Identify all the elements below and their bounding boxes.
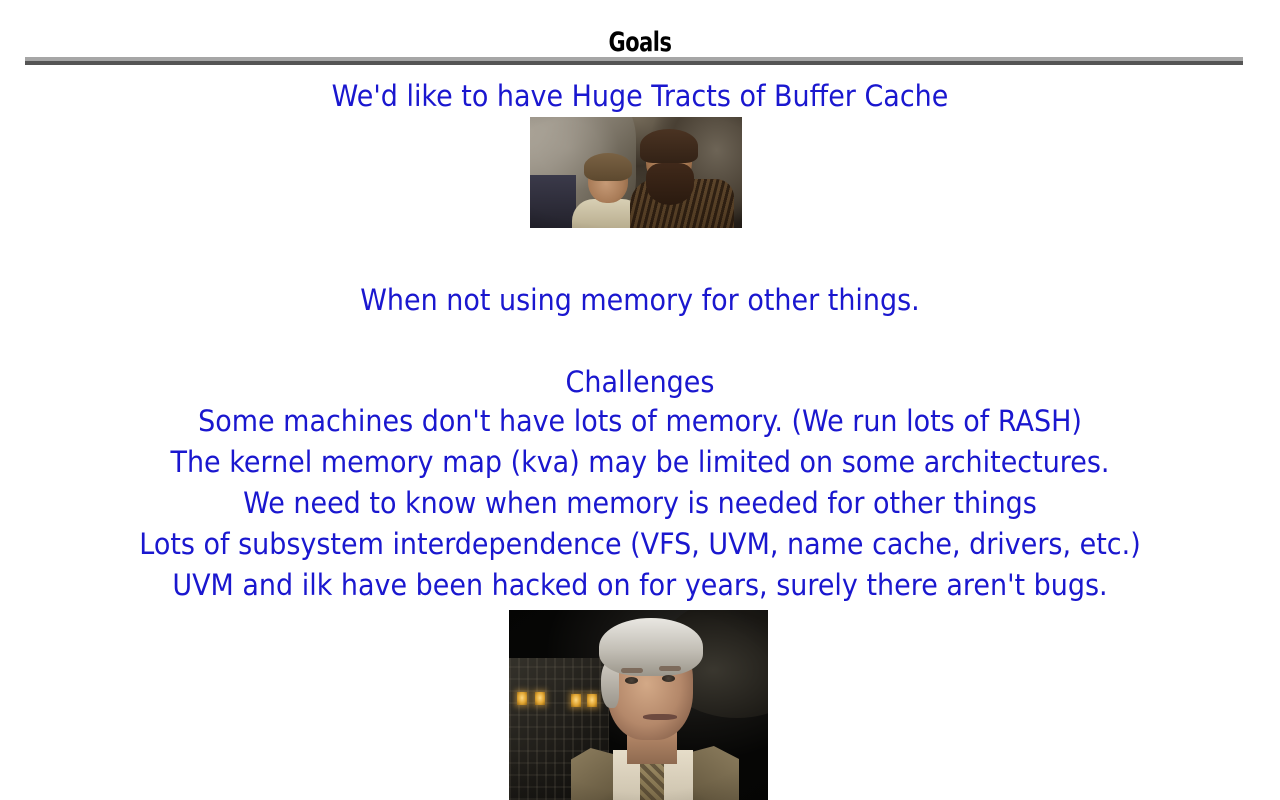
divider-shadow: [25, 61, 1243, 65]
headline-text: We'd like to have Huge Tracts of Buffer …: [45, 79, 1235, 113]
page-title: Goals: [90, 28, 1191, 58]
challenge-line: We need to know when memory is needed fo…: [45, 486, 1235, 520]
cave-vignette: [530, 117, 742, 228]
title-divider: [25, 57, 1243, 65]
challenge-line: The kernel memory map (kva) may be limit…: [45, 445, 1235, 479]
subline-text: When not using memory for other things.: [45, 283, 1235, 317]
challenge-line: Some machines don't have lots of memory.…: [45, 404, 1235, 438]
challenge-line: Lots of subsystem interdependence (VFS, …: [45, 527, 1235, 561]
challenge-line: UVM and ilk have been hacked on for year…: [45, 568, 1235, 602]
challenges-heading: Challenges: [45, 365, 1235, 399]
cockpit-vignette: [509, 610, 768, 800]
cockpit-photo: [509, 610, 768, 800]
cave-photo: [530, 117, 742, 228]
